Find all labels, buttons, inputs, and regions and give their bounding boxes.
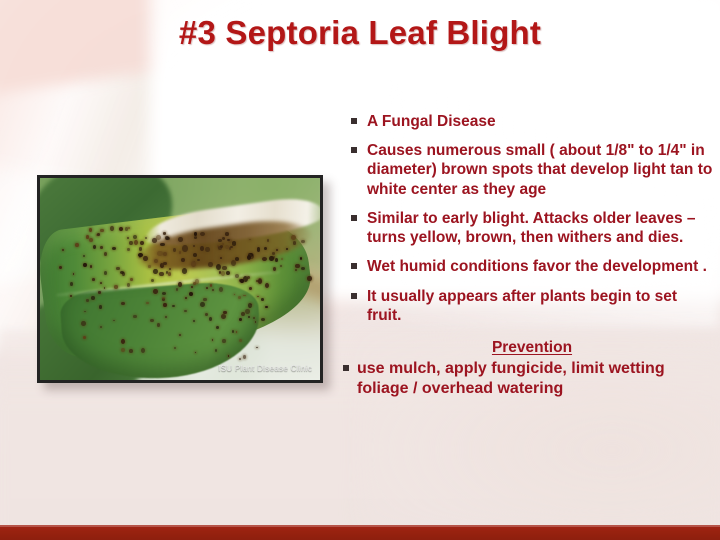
bullet-square-icon bbox=[351, 118, 357, 124]
list-item-text: Similar to early blight. Attacks older l… bbox=[367, 210, 696, 246]
photo-credit-caption: ISU Plant Disease Clinic bbox=[218, 364, 312, 373]
leaf-photo-image: ISU Plant Disease Clinic bbox=[40, 178, 320, 380]
footer-accent-highlight bbox=[0, 525, 720, 527]
prevention-list-item-text: use mulch, apply fungicide, limit wettin… bbox=[357, 360, 665, 397]
footer-accent-bar bbox=[0, 525, 720, 540]
list-item-text: Wet humid conditions favor the developme… bbox=[367, 258, 707, 275]
leaf-photo: ISU Plant Disease Clinic bbox=[37, 175, 323, 383]
bullet-square-icon bbox=[351, 293, 357, 299]
slide: #3 Septoria Leaf Blight ISU Plant Diseas… bbox=[0, 0, 720, 540]
list-item: Causes numerous small ( about 1/8" to 1/… bbox=[349, 141, 715, 199]
prevention-heading: Prevention bbox=[349, 339, 715, 357]
list-item: Similar to early blight. Attacks older l… bbox=[349, 209, 715, 247]
page-title: #3 Septoria Leaf Blight bbox=[0, 14, 720, 52]
list-item: It usually appears after plants begin to… bbox=[349, 287, 715, 325]
list-item-text: It usually appears after plants begin to… bbox=[367, 288, 677, 324]
list-item-text: Causes numerous small ( about 1/8" to 1/… bbox=[367, 142, 712, 197]
prevention-list-item: use mulch, apply fungicide, limit wettin… bbox=[343, 359, 715, 399]
list-item-text: A Fungal Disease bbox=[367, 113, 496, 130]
bullet-square-icon bbox=[351, 263, 357, 269]
list-item: Wet humid conditions favor the developme… bbox=[349, 257, 715, 276]
bullet-square-icon bbox=[343, 365, 349, 371]
bullet-square-icon bbox=[351, 147, 357, 153]
list-item: A Fungal Disease bbox=[349, 112, 715, 131]
bullet-list: A Fungal Disease Causes numerous small (… bbox=[349, 112, 715, 399]
bullet-square-icon bbox=[351, 215, 357, 221]
